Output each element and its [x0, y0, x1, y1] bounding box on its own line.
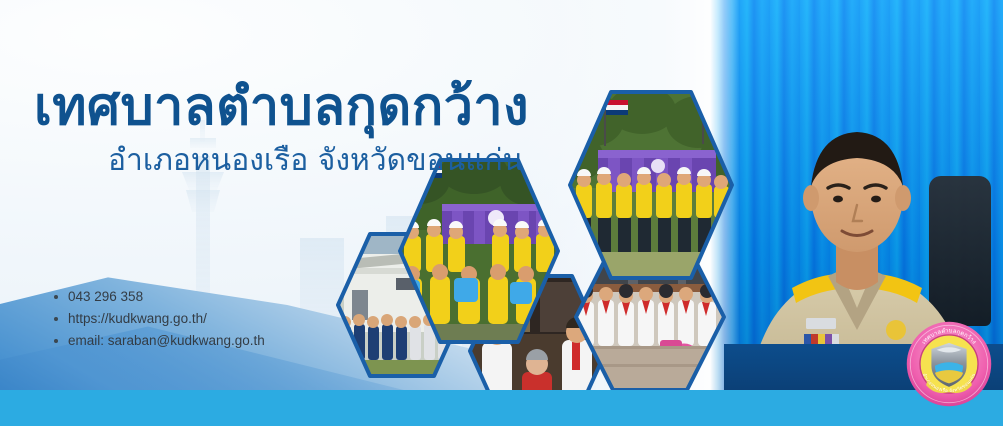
photo-collage [0, 0, 1003, 426]
municipality-banner: เทศบาลตำบลกุดกว้าง อำเภอหนองเรือ จังหวัด… [0, 0, 1003, 426]
heading-block: เทศบาลตำบลกุดกว้าง อำเภอหนองเรือ จังหวัด… [34, 78, 529, 180]
contact-phone-label: 043 296 358 [68, 289, 143, 304]
contact-email-label: email: saraban@kudkwang.go.th [68, 333, 265, 348]
page-title: เทศบาลตำบลกุดกว้าง [34, 78, 529, 136]
page-subtitle: อำเภอหนองเรือ จังหวัดขอนแก่น [108, 142, 529, 180]
bottom-cyan-band [0, 390, 1003, 426]
contact-item-phone[interactable]: 043 296 358 [52, 286, 265, 308]
contact-website-label: https://kudkwang.go.th/ [68, 311, 207, 326]
contact-list: 043 296 358 https://kudkwang.go.th/ emai… [52, 286, 265, 352]
contact-item-email[interactable]: email: saraban@kudkwang.go.th [52, 330, 265, 352]
municipality-seal[interactable]: เทศบาลตำบลกุดกว้าง อำเภอหนองเรือ จังหวัด… [905, 320, 993, 408]
contact-item-website[interactable]: https://kudkwang.go.th/ [52, 308, 265, 330]
hex-ceremony-yellow-shirts[interactable] [570, 92, 732, 278]
